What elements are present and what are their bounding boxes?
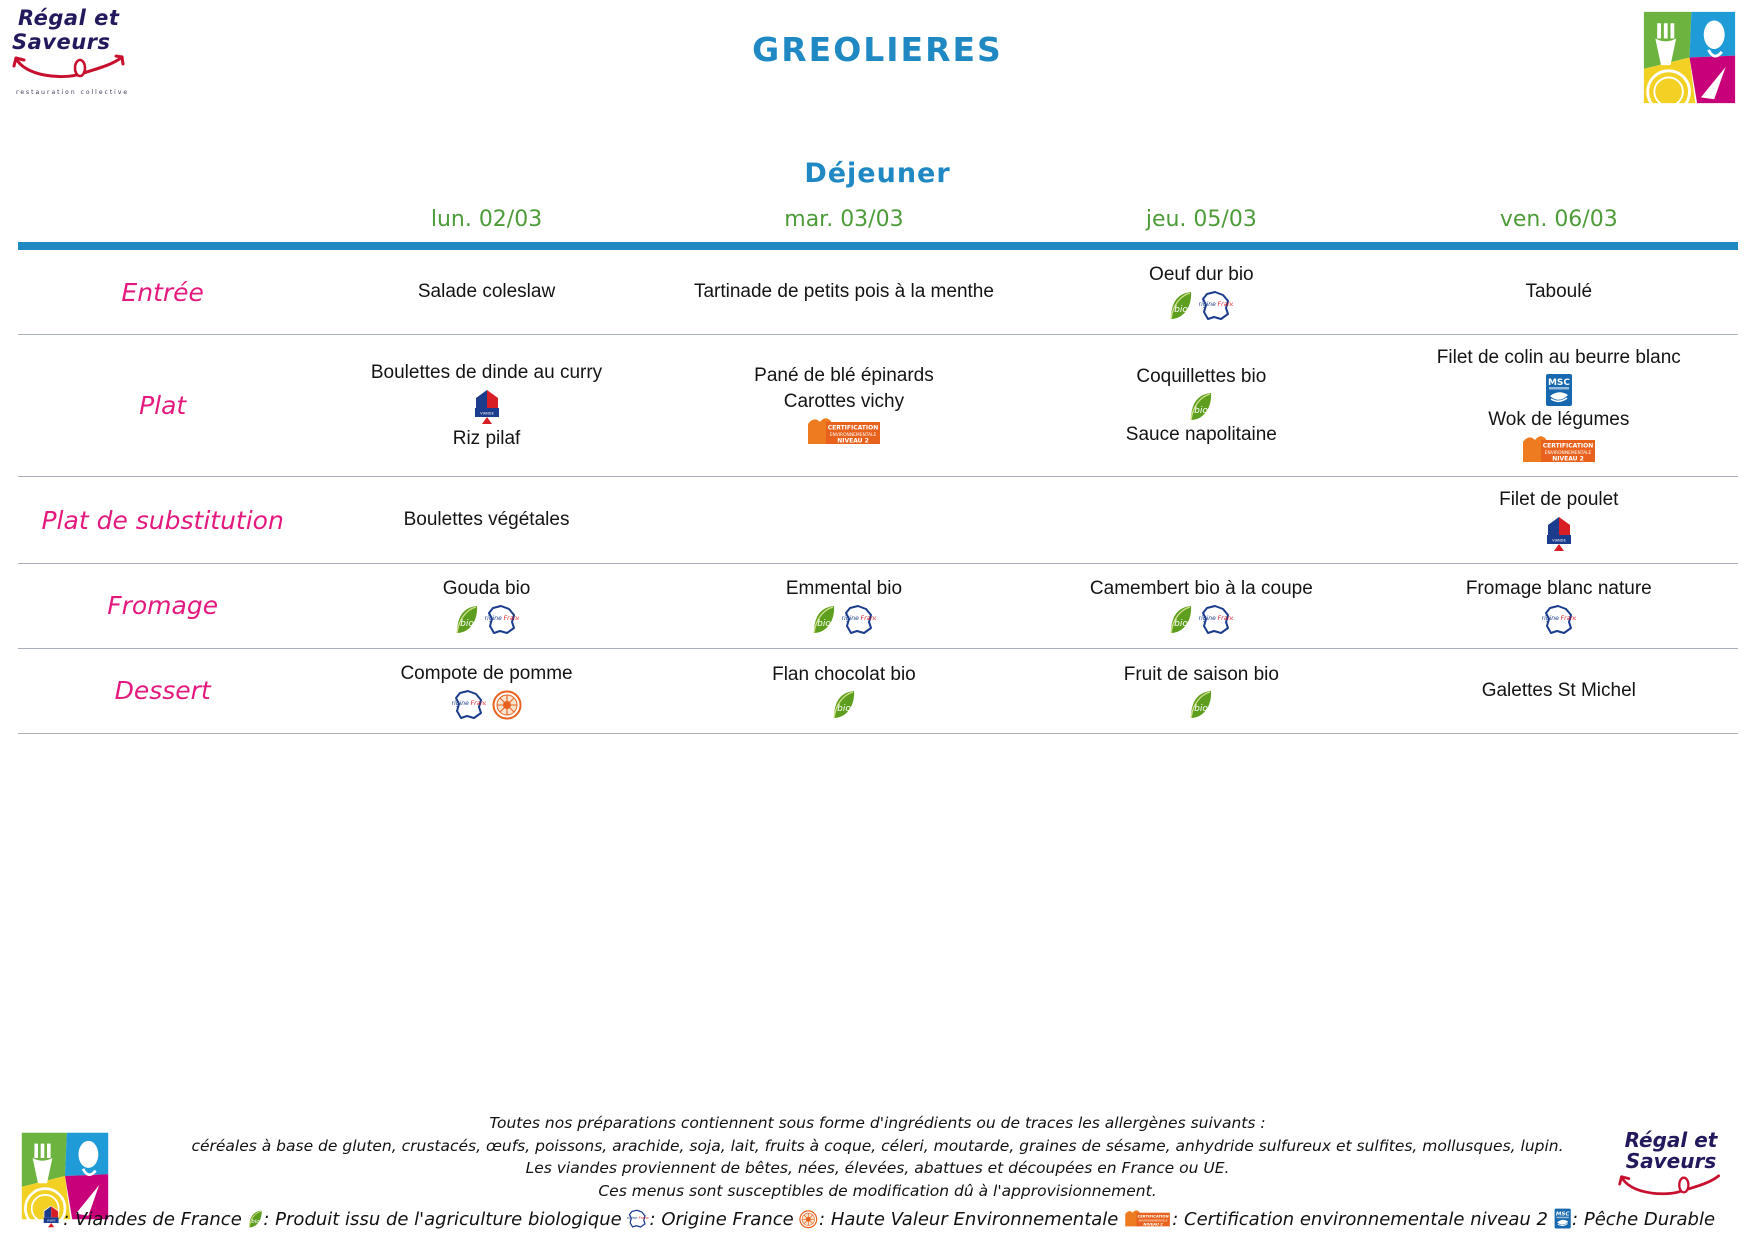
meal-title: Déjeuner [0,158,1755,189]
dish-name: Coquillettes bio [1029,364,1374,390]
svg-text:NIVEAU 2: NIVEAU 2 [1144,1222,1164,1226]
svg-text:bio: bio [837,704,851,714]
header-blue-rule [18,242,1738,250]
legend-item-label: : Pêche Durable [1572,1209,1715,1230]
msc-peche-durable-icon: MSC [1554,1208,1571,1229]
menu-cell: Compote de pommeOrigine France [308,648,665,733]
cutlery-plate-logo-icon [1642,10,1737,105]
badge-group: bioOrigine France [314,604,659,636]
certification-environnementale-niveau-2-icon: CERTIFICATIONENVIRONNEMENTALENIVEAU 2 [806,416,882,448]
origine-france-icon: Origine France [842,604,876,636]
haute-valeur-environnementale-icon [799,1210,818,1229]
menu-cell: Oeuf dur biobioOrigine France [1023,250,1380,335]
legend-item-label: : Certification environnementale niveau … [1172,1209,1548,1230]
svg-text:Origine France: Origine France [627,1216,648,1220]
svg-text:VIANDE: VIANDE [47,1220,56,1223]
bio-leaf-icon: bio [812,605,836,635]
origine-france-icon: Origine France [627,1209,648,1229]
badge-group: Origine France [314,689,659,721]
menu-cell [665,477,1022,564]
menu-cell: Fromage blanc natureOrigine France [1380,563,1737,648]
legend-item-label: : Viandes de France [63,1209,242,1230]
svg-text:VIANDE: VIANDE [480,411,494,415]
badge-group: Origine France [1386,604,1731,636]
day-header-3: ven. 06/03 [1380,203,1737,242]
allergens-line-2: céréales à base de gluten, crustacés, œu… [0,1135,1755,1157]
bio-leaf-icon: bio [1169,291,1193,321]
svg-text:bio: bio [1174,305,1188,315]
menu-cell: Filet de colin au beurre blancMSCWok de … [1380,335,1737,477]
row-label-1: Plat [18,335,308,477]
row-label-4: Dessert [18,648,308,733]
dish-name: Sauce napolitaine [1029,422,1374,448]
menu-cell: Coquillettes biobioSauce napolitaine [1023,335,1380,477]
page-title: GREOLIERES [0,30,1755,69]
menu-cell: Salade coleslaw [308,250,665,335]
badge-group: CERTIFICATIONENVIRONNEMENTALENIVEAU 2 [671,416,1016,448]
table-corner [18,203,308,242]
menu-cell: Flan chocolat biobio [665,648,1022,733]
viandes-de-france-icon: VIANDE [1541,515,1577,553]
bio-leaf-icon: bio [1189,690,1213,720]
bio-leaf-icon: bio [1189,392,1213,422]
bio-leaf-icon: bio [248,1210,263,1229]
menu-cell: Tartinade de petits pois à la menthe [665,250,1022,335]
svg-text:Origine France: Origine France [1199,615,1233,622]
dish-name: Gouda bio [314,576,659,602]
day-header-1: mar. 03/03 [665,203,1022,242]
origine-france-icon: Origine France [1542,604,1576,636]
dish-name: Compote de pomme [314,661,659,687]
menu-cell [1023,477,1380,564]
dish-name: Pané de blé épinards [671,363,1016,389]
origine-france-icon: Origine France [1199,290,1233,322]
svg-text:bio: bio [817,619,831,629]
viandes-de-france-icon: VIANDE [40,1205,62,1229]
menu-row: PlatBoulettes de dinde au curryVIANDERiz… [18,335,1738,477]
menu-row: EntréeSalade coleslawTartinade de petits… [18,250,1738,335]
legend-item: bio: Produit issu de l'agriculture biolo… [248,1209,622,1230]
menu-table: lun. 02/03 mar. 03/03 jeu. 05/03 ven. 06… [18,203,1738,734]
badge-group: CERTIFICATIONENVIRONNEMENTALENIVEAU 2 [1386,434,1731,466]
svg-text:ENVIRONNEMENTALE: ENVIRONNEMENTALE [1139,1218,1168,1222]
dish-name: Filet de poulet [1386,487,1731,513]
svg-text:Origine France: Origine France [842,615,876,622]
haute-valeur-environnementale-icon [492,690,522,720]
certification-environnementale-niveau-2-icon: CERTIFICATIONENVIRONNEMENTALENIVEAU 2 [1124,1209,1171,1229]
menu-row: FromageGouda biobioOrigine FranceEmmenta… [18,563,1738,648]
dish-name: Fromage blanc nature [1386,576,1731,602]
svg-text:bio: bio [1194,704,1208,714]
dish-name: Emmental bio [671,576,1016,602]
menu-row: Plat de substitutionBoulettes végétalesF… [18,477,1738,564]
brand-logo-line1: Régal et [18,8,140,29]
badge-group: MSC [1386,373,1731,407]
row-label-3: Fromage [18,563,308,648]
dish-name: Salade coleslaw [314,279,659,305]
dish-name: Flan chocolat bio [671,662,1016,688]
svg-text:CERTIFICATION: CERTIFICATION [1138,1214,1170,1218]
viandes-de-france-icon: VIANDE [469,388,505,426]
origine-france-icon: Origine France [485,604,519,636]
table-header-row: lun. 02/03 mar. 03/03 jeu. 05/03 ven. 06… [18,203,1738,242]
badge-group: bioOrigine France [671,604,1016,636]
svg-text:bio: bio [460,619,474,629]
bio-leaf-icon: bio [1169,605,1193,635]
svg-text:bio: bio [1174,619,1188,629]
svg-text:bio: bio [1194,406,1208,416]
badge-group: bio [1029,392,1374,422]
menu-cell: Fruit de saison biobio [1023,648,1380,733]
day-header-2: jeu. 05/03 [1023,203,1380,242]
svg-text:CERTIFICATION: CERTIFICATION [828,425,879,432]
legend-line: VIANDE: Viandes de France bio: Produit i… [0,1205,1755,1233]
menu-row: DessertCompote de pommeOrigine FranceFla… [18,648,1738,733]
origine-france-icon: Origine France [1199,604,1233,636]
day-header-0: lun. 02/03 [308,203,665,242]
legend-item-label: : Origine France [650,1209,794,1230]
svg-text:VIANDE: VIANDE [1552,538,1566,542]
dish-name: Boulettes végétales [314,507,659,533]
bio-leaf-icon: bio [832,690,856,720]
dish-name: Filet de colin au beurre blanc [1386,345,1731,371]
menu-table-body: EntréeSalade coleslawTartinade de petits… [18,250,1738,733]
row-label-0: Entrée [18,250,308,335]
page-header: Régal et Saveurs restauration collective… [0,0,1755,118]
menu-cell: Pané de blé épinardsCarottes vichyCERTIF… [665,335,1022,477]
menu-cell: Gouda biobioOrigine France [308,563,665,648]
dish-name: Wok de légumes [1386,407,1731,433]
legend-item-label: : Haute Valeur Environnementale [819,1209,1118,1230]
menu-cell: Emmental biobioOrigine France [665,563,1022,648]
origine-france-icon: Origine France [452,689,486,721]
badge-group: bio [1029,690,1374,720]
blue-separator-bar [18,242,1738,250]
svg-text:NIVEAU 2: NIVEAU 2 [1552,456,1584,463]
menu-cell: Boulettes végétales [308,477,665,564]
legend-item: MSC: Pêche Durable [1554,1209,1715,1230]
menu-cell: Filet de pouletVIANDE [1380,477,1737,564]
menu-cell: Taboulé [1380,250,1737,335]
dish-name: Camembert bio à la coupe [1029,576,1374,602]
svg-text:MSC: MSC [1548,378,1570,388]
badge-group: VIANDE [314,388,659,426]
dish-name: Galettes St Michel [1386,678,1731,704]
menu-cell: Boulettes de dinde au curryVIANDERiz pil… [308,335,665,477]
dish-name: Riz pilaf [314,426,659,452]
badge-group: bio [671,690,1016,720]
legend-item: Origine France: Origine France [627,1209,793,1230]
menu-modification-line: Ces menus sont susceptibles de modificat… [0,1180,1755,1202]
svg-text:Origine France: Origine France [1542,615,1576,622]
svg-text:bio: bio [251,1219,260,1225]
meat-origin-line: Les viandes proviennent de bêtes, nées, … [0,1157,1755,1179]
dish-name: Fruit de saison bio [1029,662,1374,688]
bio-leaf-icon: bio [455,605,479,635]
svg-text:MSC: MSC [1556,1211,1571,1217]
dish-name: Boulettes de dinde au curry [314,360,659,386]
legend-item: CERTIFICATIONENVIRONNEMENTALENIVEAU 2: C… [1124,1209,1548,1230]
legend-item-label: : Produit issu de l'agriculture biologiq… [263,1209,621,1230]
svg-text:NIVEAU 2: NIVEAU 2 [837,438,869,445]
dish-name: Carottes vichy [671,389,1016,415]
dish-name: Oeuf dur bio [1029,262,1374,288]
badge-group: bioOrigine France [1029,604,1374,636]
allergens-line-1: Toutes nos préparations contiennent sous… [0,1112,1755,1134]
svg-text:Origine France: Origine France [485,615,519,622]
row-label-2: Plat de substitution [18,477,308,564]
dish-name: Tartinade de petits pois à la menthe [671,279,1016,305]
svg-text:Origine France: Origine France [1199,301,1233,308]
menu-cell: Galettes St Michel [1380,648,1737,733]
badge-group: VIANDE [1386,515,1731,553]
dish-name: Taboulé [1386,279,1731,305]
certification-environnementale-niveau-2-icon: CERTIFICATIONENVIRONNEMENTALENIVEAU 2 [1521,434,1597,466]
legend-item: : Haute Valeur Environnementale [799,1209,1118,1230]
footer: Toutes nos préparations contiennent sous… [0,1112,1755,1233]
msc-peche-durable-icon: MSC [1545,373,1573,407]
badge-group: bioOrigine France [1029,290,1374,322]
svg-text:CERTIFICATION: CERTIFICATION [1542,443,1593,450]
brand-tagline: restauration collective [16,89,140,96]
svg-text:Origine France: Origine France [452,700,486,707]
menu-cell: Camembert bio à la coupebioOrigine Franc… [1023,563,1380,648]
legend-item: VIANDE: Viandes de France [40,1209,242,1230]
